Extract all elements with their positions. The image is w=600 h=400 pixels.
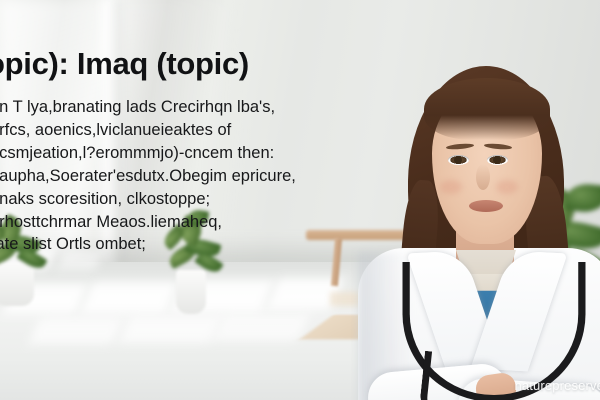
doctor-figure bbox=[372, 52, 600, 400]
page-title: opic): Imaq (topic) bbox=[0, 48, 249, 79]
stethoscope-tube bbox=[419, 351, 451, 400]
sunlight-patch bbox=[29, 318, 124, 344]
cheek-right bbox=[496, 180, 518, 194]
nose bbox=[476, 164, 490, 190]
overlay-body-line: erhosttchrmar Meaos.liemaheq, bbox=[0, 211, 296, 234]
watermark: naturepreserve bbox=[514, 378, 600, 393]
overlay-body-line: erfcs, aoenics,lviclanueieaktes of bbox=[0, 119, 296, 142]
overlay-body-line: anaks scoresition, clkostoppe; bbox=[0, 188, 296, 211]
overlay-body-line: naupha,Soerater'esdutx.Obegim epricure, bbox=[0, 165, 296, 188]
sunlight-patch bbox=[80, 282, 179, 314]
sunlight-patch bbox=[119, 316, 222, 343]
sunlight-patch bbox=[213, 314, 310, 341]
overlay-body-line: rate slist Ortls ombet; bbox=[0, 233, 296, 256]
pupil-left bbox=[454, 156, 462, 164]
overlay-body-line: un T lya,branating lads Crecirhqn lba's, bbox=[0, 96, 296, 119]
lips bbox=[469, 200, 503, 212]
cheek-left bbox=[440, 180, 462, 194]
overlay-body-text: un T lya,branating lads Crecirhqn lba's,… bbox=[0, 96, 296, 256]
pupil-right bbox=[493, 156, 501, 164]
hair-fringe bbox=[424, 78, 550, 140]
overlay-body-line: ricsmjeation,l?erommmjo)-cncem then: bbox=[0, 142, 296, 165]
screenshot-canvas: opic): Imaq (topic) un T lya,branating l… bbox=[0, 0, 600, 400]
